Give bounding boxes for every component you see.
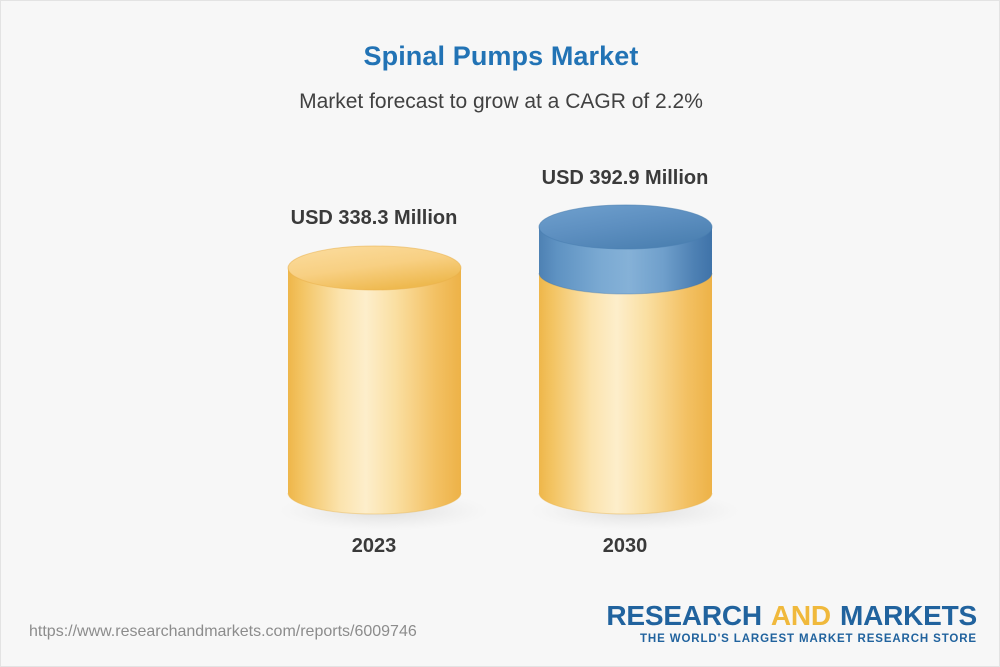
research-and-markets-logo[interactable]: RESEARCHANDMARKETS THE WORLD'S LARGEST M… — [606, 601, 977, 645]
category-label-2023: 2023 — [274, 535, 474, 558]
bar-2023 — [279, 246, 489, 531]
value-label-2030: USD 392.9 Million — [525, 167, 725, 190]
logo-tagline: THE WORLD'S LARGEST MARKET RESEARCH STOR… — [606, 633, 977, 645]
logo-word-markets: MARKETS — [840, 600, 977, 631]
source-url[interactable]: https://www.researchandmarkets.com/repor… — [29, 623, 417, 641]
cylinder-bar-chart — [1, 1, 1000, 667]
value-label-2023: USD 338.3 Million — [274, 207, 474, 230]
logo-wordmark: RESEARCHANDMARKETS — [606, 601, 977, 630]
bar-2030 — [530, 205, 740, 531]
category-label-2030: 2030 — [525, 535, 725, 558]
chart-canvas: Spinal Pumps Market Market forecast to g… — [0, 0, 1000, 667]
logo-word-research: RESEARCH — [606, 600, 762, 631]
logo-word-and: AND — [771, 600, 831, 631]
